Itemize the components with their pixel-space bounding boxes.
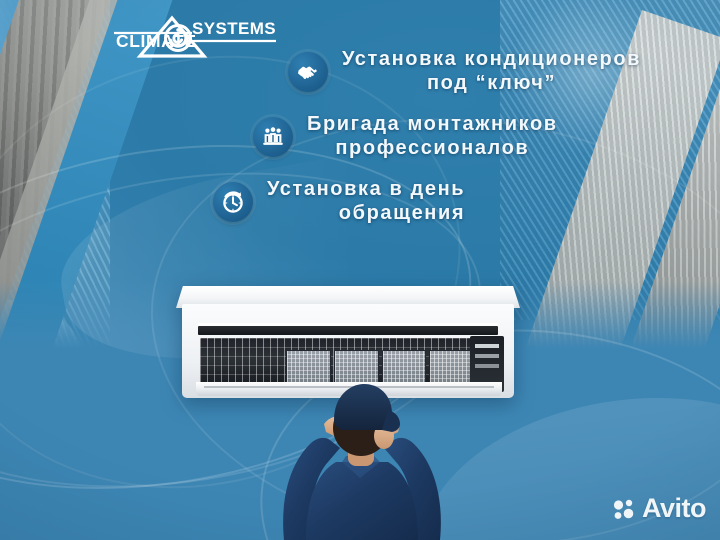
feature-line-1: Установка в день — [267, 178, 465, 202]
technician-cap — [334, 384, 392, 430]
feature-text-turnkey-installation: Установка кондиционеров под “ключ” — [342, 48, 641, 95]
feature-line-1: Бригада монтажников — [307, 113, 558, 137]
feature-line-2: профессионалов — [307, 137, 558, 161]
advertisement-banner: CLIMATE SYSTEMS Установка кондиционеров … — [0, 0, 720, 540]
feature-item-same-day-installation: Установка в день обращения — [0, 178, 700, 225]
avito-watermark-text: Avito — [642, 495, 706, 522]
feature-text-professional-team: Бригада монтажников профессионалов — [307, 113, 558, 160]
feature-line-2: обращения — [267, 202, 465, 226]
avito-watermark: Avito — [612, 495, 706, 522]
ac-upper-intake-slot — [198, 326, 498, 335]
feature-line-2: под “ключ” — [342, 72, 641, 96]
feature-item-professional-team: Бригада монтажников профессионалов — [0, 113, 700, 160]
technician-figure — [250, 380, 472, 540]
group-people-icon — [253, 117, 293, 157]
feature-list: Установка кондиционеров под “ключ” — [0, 48, 700, 244]
logo-graphic: CLIMATE SYSTEMS — [100, 12, 278, 62]
avito-logo-icon — [612, 497, 636, 521]
brand-logo: CLIMATE SYSTEMS — [100, 12, 278, 62]
technician-graphic — [250, 380, 472, 540]
logo-text-systems: SYSTEMS — [192, 19, 276, 38]
handshake-icon — [288, 52, 328, 92]
feature-line-1: Установка кондиционеров — [342, 48, 641, 72]
clock-arrow-icon — [213, 182, 253, 222]
feature-text-same-day-installation: Установка в день обращения — [267, 178, 465, 225]
